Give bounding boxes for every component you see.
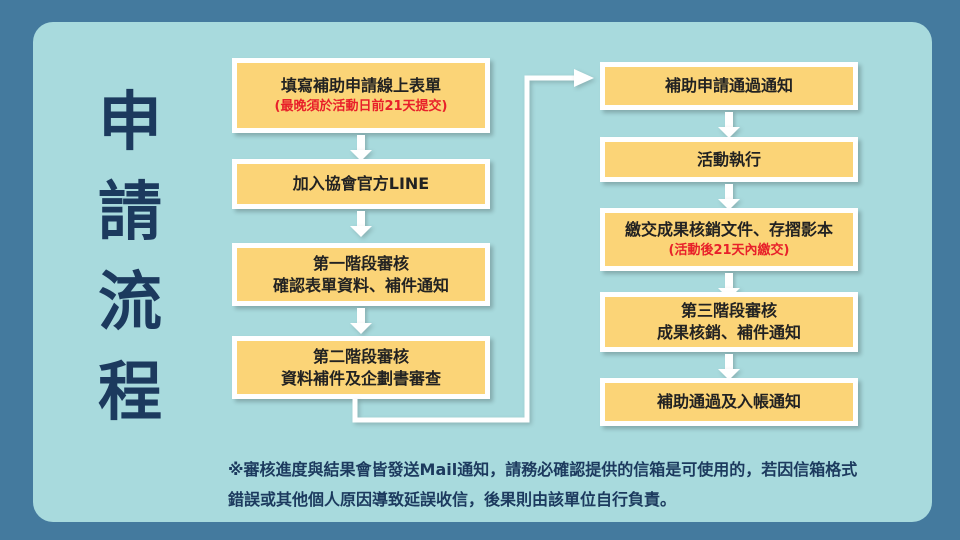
arrow-down-icon	[718, 184, 740, 210]
title-char-2: 請	[75, 168, 185, 258]
flow-box-stage-one-review[interactable]: 第一階段審核 確認表單資料、補件通知	[232, 243, 490, 306]
page-title: 申 請 流 程	[75, 78, 185, 438]
flow-box-title: 填寫補助申請線上表單	[281, 75, 441, 97]
arrow-down-icon	[350, 135, 372, 161]
flow-box-subtitle: 確認表單資料、補件通知	[273, 275, 449, 297]
flow-box-note: (最晚須於活動日前21天提交)	[275, 98, 448, 116]
flow-box-title: 繳交成果核銷文件、存摺影本	[625, 219, 833, 241]
flow-box-event-execution[interactable]: 活動執行	[600, 137, 858, 182]
flow-box-stage-three-review[interactable]: 第三階段審核 成果核銷、補件通知	[600, 292, 858, 352]
flow-box-submit-result-documents[interactable]: 繳交成果核銷文件、存摺影本 (活動後21天內繳交)	[600, 208, 858, 271]
arrow-down-icon	[718, 112, 740, 138]
flow-box-title: 第一階段審核	[313, 253, 409, 275]
footer-note-line-2: 錯誤或其他個人原因導致延誤收信，後果則由該單位自行負責。	[228, 485, 888, 515]
flow-box-stage-two-review[interactable]: 第二階段審核 資料補件及企劃書審查	[232, 336, 490, 399]
footer-note: ※審核進度與結果會皆發送Mail通知，請務必確認提供的信箱是可使用的，若因信箱格…	[228, 455, 888, 515]
flow-box-subtitle: 資料補件及企劃書審查	[281, 368, 441, 390]
arrow-down-icon	[350, 308, 372, 334]
flow-box-title: 第二階段審核	[313, 346, 409, 368]
flow-box-title: 補助通過及入帳通知	[657, 391, 801, 413]
flow-box-title: 補助申請通過通知	[665, 75, 793, 97]
flow-box-fill-online-form[interactable]: 填寫補助申請線上表單 (最晚須於活動日前21天提交)	[232, 58, 490, 133]
flow-box-grant-approved-deposit-notice[interactable]: 補助通過及入帳通知	[600, 378, 858, 426]
flow-box-note: (活動後21天內繳交)	[669, 242, 790, 260]
title-char-3: 流	[75, 258, 185, 348]
title-char-1: 申	[75, 78, 185, 168]
title-char-4: 程	[75, 348, 185, 438]
arrow-down-icon	[718, 354, 740, 380]
flow-box-subtitle: 成果核銷、補件通知	[657, 322, 801, 344]
flow-box-title: 活動執行	[697, 149, 761, 171]
flow-box-title: 第三階段審核	[681, 300, 777, 322]
flow-box-title: 加入協會官方LINE	[293, 173, 429, 195]
arrow-down-icon	[350, 211, 372, 237]
flow-box-application-approved-notice[interactable]: 補助申請通過通知	[600, 62, 858, 110]
flow-box-join-official-line[interactable]: 加入協會官方LINE	[232, 159, 490, 209]
footer-note-line-1: ※審核進度與結果會皆發送Mail通知，請務必確認提供的信箱是可使用的，若因信箱格…	[228, 455, 888, 485]
